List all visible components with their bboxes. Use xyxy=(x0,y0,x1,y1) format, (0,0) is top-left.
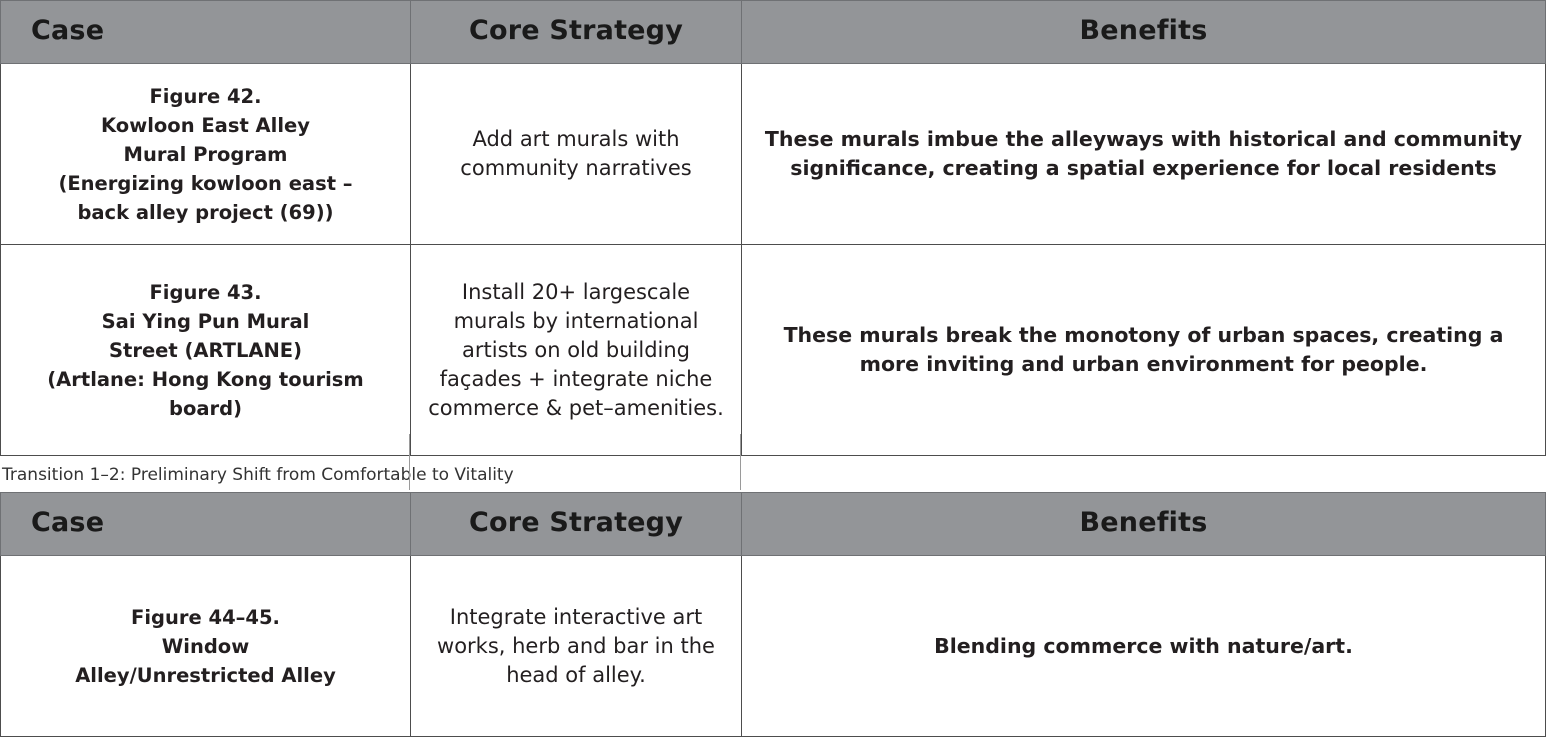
cell-benefits: These murals imbue the alleyways with hi… xyxy=(742,64,1546,245)
document-page: Case Core Strategy Benefits Figure 42.Ko… xyxy=(0,0,1555,717)
column-header-core-strategy: Core Strategy xyxy=(411,1,742,64)
column-header-benefits: Benefits xyxy=(742,493,1546,556)
table-header-row: Case Core Strategy Benefits xyxy=(1,493,1546,556)
table-row: Figure 43.Sai Ying Pun MuralStreet (ARTL… xyxy=(1,245,1546,456)
column-header-case: Case xyxy=(1,1,411,64)
cell-case: Figure 44–45.WindowAlley/Unrestricted Al… xyxy=(1,556,411,737)
column-header-benefits: Benefits xyxy=(742,1,1546,64)
cell-case: Figure 42.Kowloon East AlleyMural Progra… xyxy=(1,64,411,245)
table-transition-2: Case Core Strategy Benefits Figure 44–45… xyxy=(0,492,1546,737)
table-transition-1: Case Core Strategy Benefits Figure 42.Ko… xyxy=(0,0,1546,456)
table-row: Figure 44–45.WindowAlley/Unrestricted Al… xyxy=(1,556,1546,737)
table-header-row: Case Core Strategy Benefits xyxy=(1,1,1546,64)
column-header-case: Case xyxy=(1,493,411,556)
cell-core-strategy: Add art murals with community narratives xyxy=(411,64,742,245)
cell-core-strategy: Install 20+ largescale murals by interna… xyxy=(411,245,742,456)
cell-benefits: Blending commerce with nature/art. xyxy=(742,556,1546,737)
table-caption: Transition 1–2: Preliminary Shift from C… xyxy=(0,456,1555,492)
column-header-core-strategy: Core Strategy xyxy=(411,493,742,556)
cell-benefits: These murals break the monotony of urban… xyxy=(742,245,1546,456)
table-row: Figure 42.Kowloon East AlleyMural Progra… xyxy=(1,64,1546,245)
cell-core-strategy: Integrate interactive art works, herb an… xyxy=(411,556,742,737)
cell-case: Figure 43.Sai Ying Pun MuralStreet (ARTL… xyxy=(1,245,411,456)
